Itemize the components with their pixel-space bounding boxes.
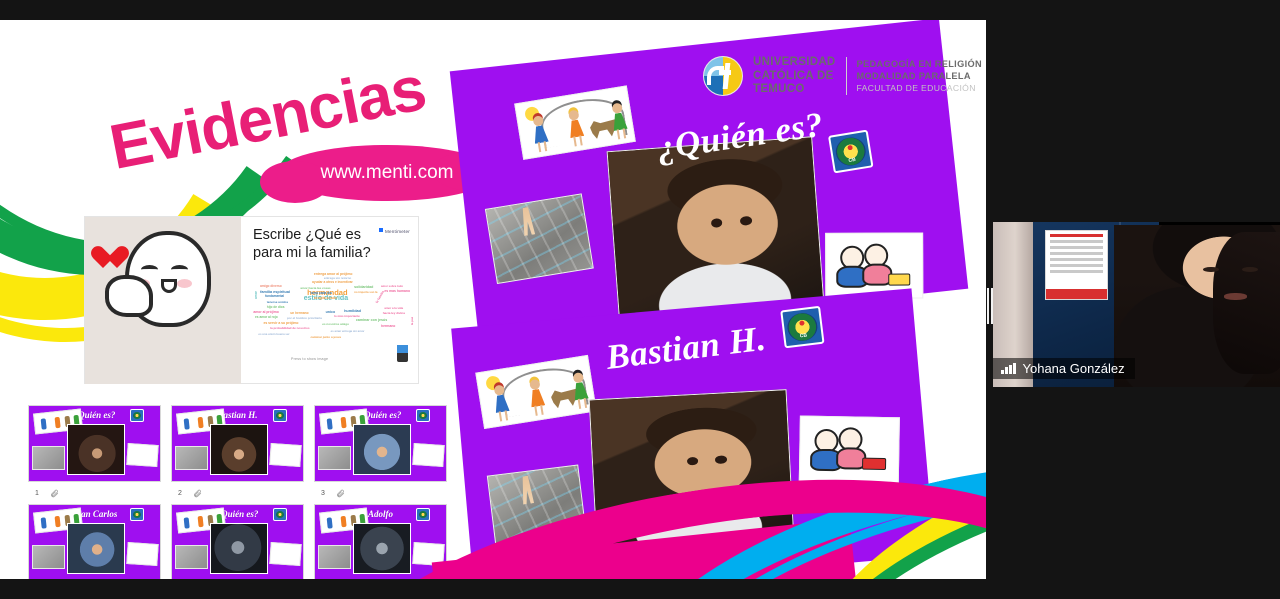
program-line3: FACULTAD DE EDUCACIÓN xyxy=(857,83,982,94)
school-badge-icon-thumb xyxy=(416,508,430,521)
toy-car-icon xyxy=(888,274,910,286)
slide-thumbnail[interactable]: ¿Quién es?1 xyxy=(28,405,171,504)
slide-thumbnail-meta: 3 xyxy=(314,482,457,504)
slide-thumbnail-preview[interactable]: Adolfo xyxy=(314,504,447,579)
institution-name-line1: UNIVERSIDAD xyxy=(753,56,836,70)
wordcloud-word: hacia ley divina xyxy=(383,311,405,315)
wordcloud-word: solidaridad xyxy=(354,285,373,289)
participant-eye-left xyxy=(1203,267,1219,272)
badge-label: CB xyxy=(834,155,870,167)
wordcloud-word: es servir a su prójimo xyxy=(263,321,298,325)
screen-share-view: Evidencias www.menti.com Mentimeter xyxy=(0,0,1280,599)
hopscotch-photo-thumb xyxy=(175,545,208,569)
babies-clipart-thumb xyxy=(412,443,444,467)
wordcloud-word: familia espiritual xyxy=(260,290,290,294)
participant-hair xyxy=(1213,232,1280,374)
child-photo-thumb xyxy=(67,523,125,574)
hopscotch-photo-2 xyxy=(487,465,588,554)
wordcloud-word: caminar con jesús xyxy=(356,318,387,322)
child-photo-thumb xyxy=(210,424,268,475)
slide-thumbnail[interactable]: Juan Carlos4 xyxy=(28,504,171,579)
school-badge-icon-thumb xyxy=(273,508,287,521)
participant-name-badge: Yohana González xyxy=(993,358,1135,379)
school-badge-icon-thumb xyxy=(416,409,430,422)
school-badge-icon-2: CB xyxy=(780,306,824,349)
program-line1: PEDAGOGÍA EN RELIGIÓN xyxy=(857,59,982,71)
hopscotch-photo-thumb xyxy=(32,446,65,470)
wordcloud-word: tenerse unidos xyxy=(267,300,288,304)
wordcloud-word: hijo de dios xyxy=(267,305,285,309)
cartoon-photo xyxy=(85,217,241,384)
participant-face xyxy=(1114,225,1280,387)
wordcloud-word: la probabilidad de nosotros xyxy=(270,326,309,330)
participant-name: Yohana González xyxy=(1023,361,1125,376)
child-photo-main-2 xyxy=(589,389,795,557)
jumprope-clipart-2 xyxy=(475,355,597,429)
slide-thumbnail-meta: 1 xyxy=(28,482,171,504)
paperclip-icon[interactable] xyxy=(193,489,202,498)
slide-thumbnail[interactable]: ¿Quién es?3 xyxy=(314,405,457,504)
slide-title-bastian: Bastian H. xyxy=(604,319,768,378)
paperclip-icon[interactable] xyxy=(336,489,345,498)
babies-clipart-2 xyxy=(799,416,900,486)
blob-cheek-right-icon xyxy=(177,279,192,288)
wordcloud-word: hermano xyxy=(381,324,395,328)
program-line2: MODALIDAD PARALELA xyxy=(857,71,982,83)
wordcloud-word: es una unión buena ser xyxy=(258,332,289,336)
wordcloud-word: caminar junto a jesus xyxy=(310,335,341,339)
child-face-2 xyxy=(590,390,794,556)
toy-car-icon-2 xyxy=(862,458,886,470)
wordcloud-word: es amor al rojo xyxy=(255,315,278,319)
wordcloud-word: tomá cada día xyxy=(310,291,331,295)
babies-clipart-thumb xyxy=(126,542,158,566)
blob-love-hand-icon xyxy=(105,275,153,317)
wordcloud-word: por el hombre prioritaria xyxy=(287,316,322,320)
school-badge-icon-thumb xyxy=(130,508,144,521)
slide-number: 2 xyxy=(178,490,182,497)
school-badge-icon: CB xyxy=(828,130,874,174)
mentimeter-panel: Mentimeter Escribe ¿Qué es para mi la fa… xyxy=(245,217,420,384)
wordcloud-word: es mas humano xyxy=(384,289,410,293)
slide-thumbnail-preview[interactable]: Juan Carlos xyxy=(28,504,161,579)
wordcloud-word: amor xyxy=(254,291,258,299)
mic-signal-icon xyxy=(1001,363,1016,374)
child-photo-thumb xyxy=(67,424,125,475)
slide-thumbnail-grid[interactable]: ¿Quién es?1Bastian H.2¿Quién es?3Juan Ca… xyxy=(28,405,458,579)
wordcloud-word: la paz xyxy=(410,317,414,325)
child-photo-thumb xyxy=(210,523,268,574)
slide-thumbnail-preview[interactable]: Bastian H. xyxy=(171,405,304,482)
heart-icon xyxy=(91,247,117,271)
menti-link-label: www.menti.com xyxy=(320,162,453,184)
wordcloud-word: amor sobre todo xyxy=(381,284,403,288)
participant-mouth xyxy=(1224,293,1247,300)
child-photo-thumb xyxy=(353,424,411,475)
slide-thumbnail-preview[interactable]: ¿Quién es? xyxy=(28,405,161,482)
jumprope-clipart xyxy=(514,85,636,159)
mentimeter-wordcloud: hermandadestilo de vidaentrega amor al p… xyxy=(250,271,418,349)
mentimeter-brand: Mentimeter xyxy=(379,228,410,234)
babies-clipart-thumb xyxy=(126,443,158,467)
school-badge-icon-thumb xyxy=(130,409,144,422)
hopscotch-chalk-pattern-2 xyxy=(488,466,587,552)
child-photo-thumb xyxy=(353,523,411,574)
mentimeter-logo-icon xyxy=(379,228,383,232)
blob-eye-left-icon xyxy=(141,265,158,274)
foreground-slide-bastian[interactable]: CB Bastian H. xyxy=(451,288,935,579)
slide-thumbnail-meta: 2 xyxy=(171,482,314,504)
wordcloud-word: es amar entrega sin amor xyxy=(331,329,365,333)
babies-clipart-thumb xyxy=(269,542,301,566)
hopscotch-photo xyxy=(485,193,594,284)
slide-number: 3 xyxy=(321,490,325,497)
slide-number: 1 xyxy=(35,490,39,497)
slide-thumbnail-preview[interactable]: ¿Quién es? xyxy=(171,504,304,579)
paperclip-icon[interactable] xyxy=(50,489,59,498)
babies-clipart-thumb xyxy=(412,542,444,566)
wordcloud-word: ayudar a otros e incentivar xyxy=(312,280,353,284)
logo-divider xyxy=(846,57,847,95)
wall-poster xyxy=(1045,230,1108,299)
wordcloud-word: no importa son la xyxy=(354,290,377,294)
wordcloud-word: se agita a valor xyxy=(314,296,337,300)
wordcloud-word: amigo diverso xyxy=(260,284,282,288)
mentimeter-footer-text: Press to show image xyxy=(291,357,328,361)
wordcloud-word: entrega amor al prójimo xyxy=(314,272,353,276)
shared-presentation-canvas[interactable]: Evidencias www.menti.com Mentimeter xyxy=(0,20,986,579)
babies-clipart-thumb xyxy=(269,443,301,467)
blob-eye-right-icon xyxy=(171,265,188,274)
wordcloud-word: amor a la vida xyxy=(384,306,403,310)
school-badge-icon-thumb xyxy=(273,409,287,422)
mentimeter-result-card[interactable]: Mentimeter Escribe ¿Qué es para mi la fa… xyxy=(84,216,419,384)
institution-program: PEDAGOGÍA EN RELIGIÓN MODALIDAD PARALELA… xyxy=(857,59,982,94)
wordcloud-word: humildad xyxy=(344,309,361,313)
slide-thumbnail[interactable]: Bastian H.2 xyxy=(171,405,314,504)
uct-logo-icon xyxy=(703,56,743,96)
wordcloud-word: amor al prójimo xyxy=(253,310,278,314)
badge-label-2: CB xyxy=(785,331,821,341)
wordcloud-word: es nosotros amigo xyxy=(322,322,349,326)
institution-name-line3: TEMUCO xyxy=(753,83,836,97)
hopscotch-photo-thumb xyxy=(318,446,351,470)
hopscotch-photo-thumb xyxy=(318,545,351,569)
wordcloud-word: fundamental xyxy=(265,294,284,298)
hopscotch-photo-thumb xyxy=(175,446,208,470)
mentimeter-qr-icon[interactable] xyxy=(397,345,408,362)
hopscotch-photo-thumb xyxy=(32,545,65,569)
wordcloud-word: un hermano xyxy=(290,311,308,315)
slide-thumbnail-preview[interactable]: ¿Quién es? xyxy=(314,405,447,482)
participant-video-tile[interactable]: Yohana González xyxy=(993,222,1280,387)
wordcloud-word: amor hacia las cosas xyxy=(300,286,330,290)
institution-logo-block: UNIVERSIDAD CATÓLICA DE TEMUCO PEDAGOGÍA… xyxy=(703,56,982,97)
institution-name: UNIVERSIDAD CATÓLICA DE TEMUCO xyxy=(753,56,836,97)
question-line-2: para mi la familia? xyxy=(253,244,373,262)
participant-eye-right xyxy=(1242,267,1258,272)
institution-name-line2: CATÓLICA DE xyxy=(753,70,836,84)
hopscotch-chalk-pattern xyxy=(486,194,593,282)
mentimeter-question: Escribe ¿Qué es para mi la familia? xyxy=(253,226,373,262)
question-line-1: Escribe ¿Qué es xyxy=(253,226,373,244)
slide-thumbnail[interactable]: ¿Quién es?5 xyxy=(171,504,314,579)
slide-thumbnail[interactable]: Adolfo6 xyxy=(314,504,457,579)
